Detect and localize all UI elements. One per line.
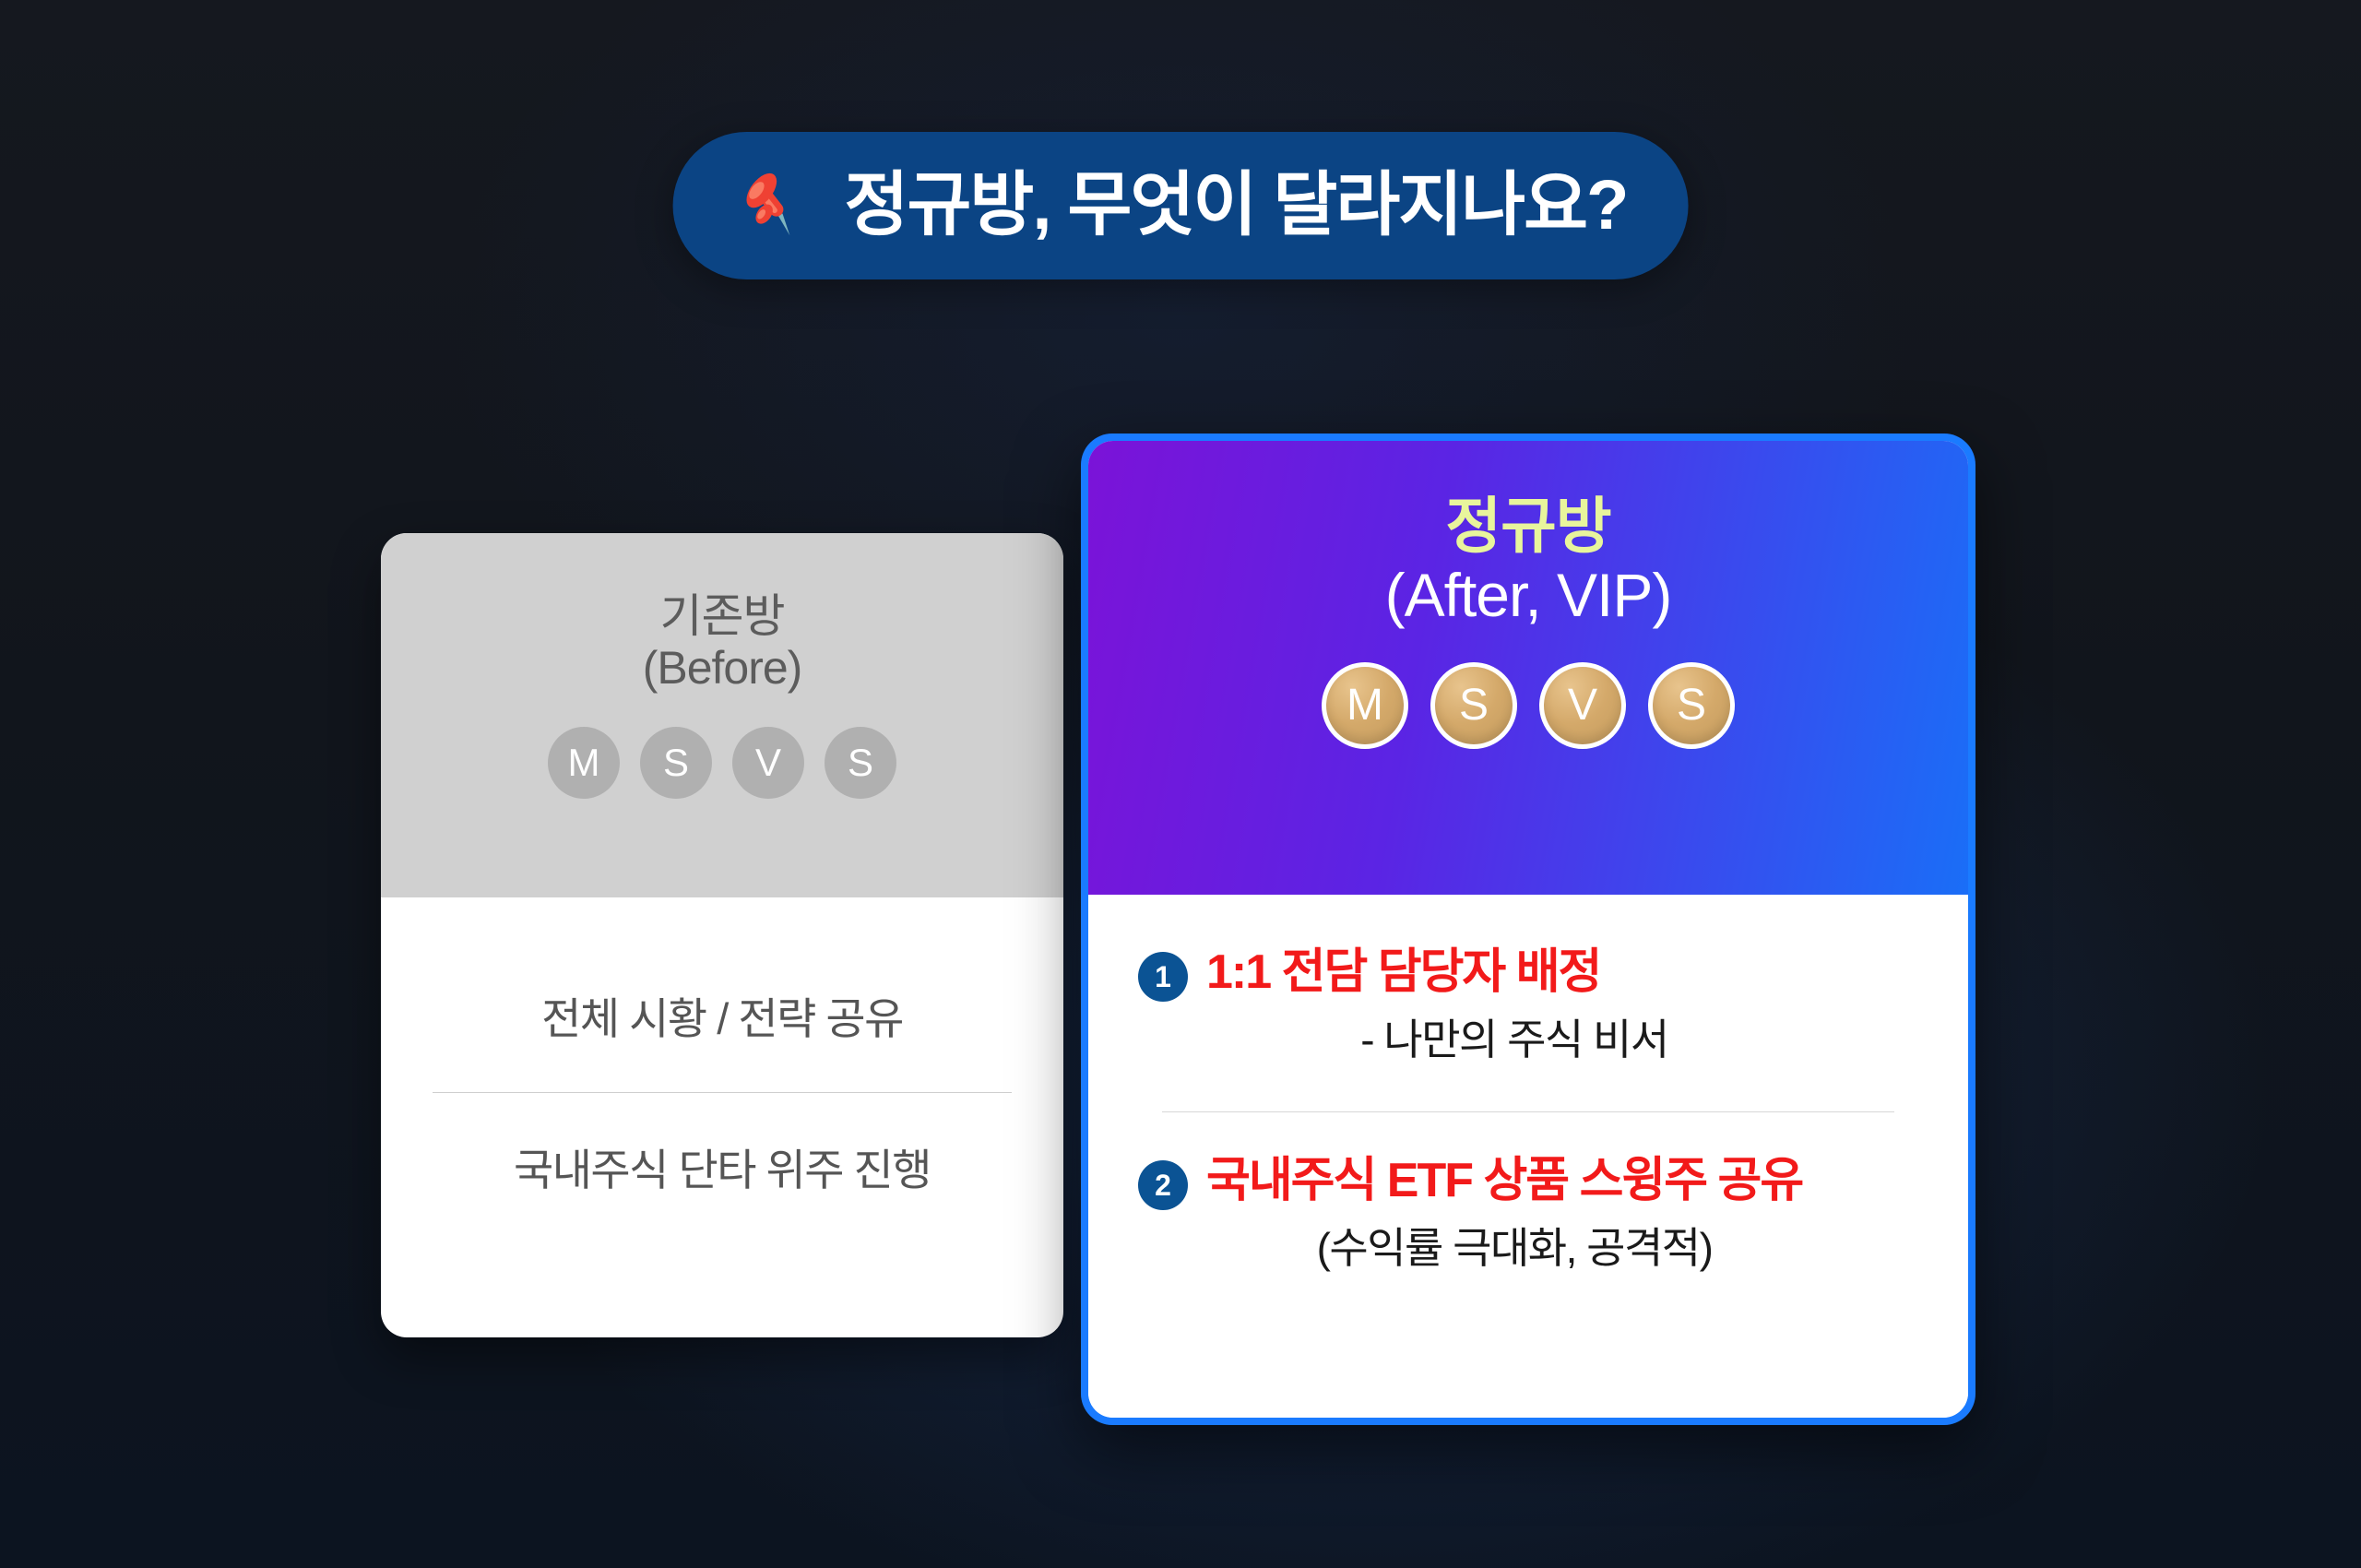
feature-subtitle: - 나만의 주식 비서 [1138, 1016, 1918, 1063]
before-avatar-row: M S V S [381, 727, 1063, 799]
avatar: S [825, 727, 896, 799]
feature-item: 1 1:1 전담 담당자 배정 - 나만의 주식 비서 [1138, 946, 1918, 1063]
comparison-cards: 기존방 (Before) M S V S 전체 시황 / 전략 공유 국내주식 … [0, 0, 2361, 1568]
avatar: S [640, 727, 712, 799]
avatar: S [1430, 662, 1517, 749]
after-card: 정규방 (After, VIP) M S V S 1 1:1 전담 담당자 배정… [1081, 434, 1975, 1425]
feature-item: 2 국내주식 ETF 상품 스윙주 공유 (수익률 극대화, 공격적) [1138, 1155, 1918, 1272]
feature-number-badge: 2 [1138, 1160, 1188, 1210]
avatar: M [1322, 662, 1408, 749]
before-feature-row: 국내주식 단타 위주 진행 [431, 1093, 1014, 1192]
avatar: V [1539, 662, 1626, 749]
before-title-ko: 기존방 [381, 590, 1063, 642]
feature-title: 국내주식 ETF 상품 스윙주 공유 [1206, 1155, 1802, 1207]
avatar: M [548, 727, 620, 799]
avatar: V [732, 727, 804, 799]
before-feature-row: 전체 시황 / 전략 공유 [431, 897, 1014, 1092]
before-card-header: 기존방 (Before) M S V S [381, 533, 1063, 897]
feature-heading: 2 국내주식 ETF 상품 스윙주 공유 [1138, 1155, 1918, 1210]
before-card: 기존방 (Before) M S V S 전체 시황 / 전략 공유 국내주식 … [381, 533, 1063, 1337]
after-card-inner: 정규방 (After, VIP) M S V S 1 1:1 전담 담당자 배정… [1088, 441, 1968, 1418]
avatar: S [1648, 662, 1735, 749]
before-title-en: (Before) [381, 642, 1063, 694]
after-title-ko: 정규방 [1088, 493, 1968, 561]
feature-number-badge: 1 [1138, 952, 1188, 1002]
feature-subtitle: (수익률 극대화, 공격적) [1138, 1225, 1918, 1272]
after-avatar-row: M S V S [1088, 662, 1968, 749]
before-card-body: 전체 시황 / 전략 공유 국내주식 단타 위주 진행 [381, 897, 1063, 1192]
feature-heading: 1 1:1 전담 담당자 배정 [1138, 946, 1918, 1002]
after-title-en: (After, VIP) [1088, 561, 1968, 631]
divider [1162, 1111, 1894, 1112]
after-card-header: 정규방 (After, VIP) M S V S [1088, 441, 1968, 895]
feature-title: 1:1 전담 담당자 배정 [1206, 946, 1600, 999]
after-card-body: 1 1:1 전담 담당자 배정 - 나만의 주식 비서 2 국내주식 ETF 상… [1088, 895, 1968, 1418]
